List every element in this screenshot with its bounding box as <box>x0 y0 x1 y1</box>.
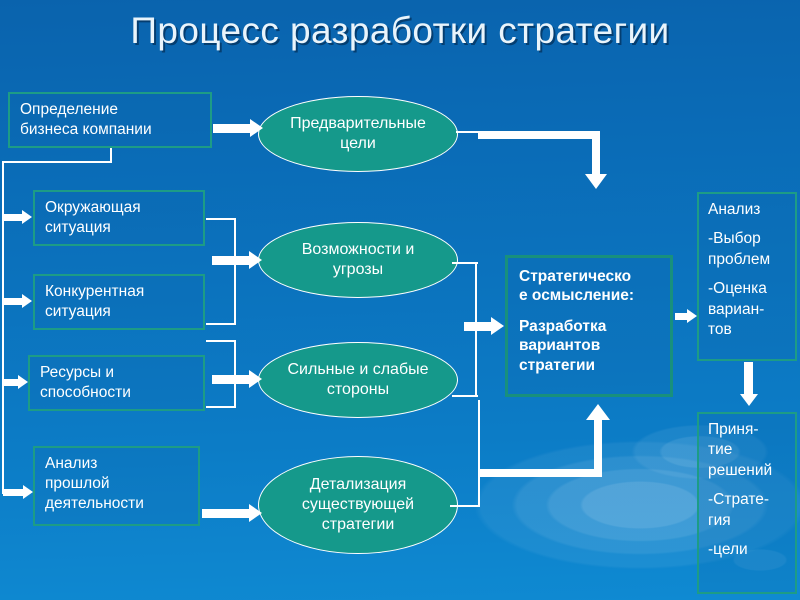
arrow-head-to-central <box>491 317 504 335</box>
spacer <box>708 481 795 490</box>
central-heading-line: е осмысление: <box>519 286 670 305</box>
box-analysis[interactable]: Анализ -Выбор проблем -Оценка вариан- то… <box>697 192 797 361</box>
central-body-line: стратегии <box>519 356 670 375</box>
analysis-heading: Анализ <box>708 200 795 220</box>
bracket-res-top <box>206 340 236 342</box>
analysis-item-line: проблем <box>708 250 795 270</box>
arrow-head-goals-down <box>585 174 607 189</box>
arrow-shaft-to-opportunities <box>212 256 254 265</box>
page-title: Процесс разработки стратегии <box>0 10 800 52</box>
arrow-head-to-strengths <box>249 370 262 388</box>
ellipse-label: Предварительные цели <box>290 114 426 154</box>
bracket-res-spine <box>234 340 236 408</box>
box-resources[interactable]: Ресурсы и способности <box>28 355 205 411</box>
arrow-head-past-to-strategy <box>249 504 262 522</box>
ellipse-line: угрозы <box>333 261 383 278</box>
spacer <box>519 306 670 317</box>
arrow-shaft-to-competition <box>3 298 23 305</box>
arrow-head-central-to-analysis <box>687 309 697 323</box>
elbow-strategy-horizontal <box>478 469 602 477</box>
spacer <box>708 531 795 540</box>
decision-heading-line: Приня- <box>708 420 795 440</box>
connector-business-left <box>2 161 112 163</box>
ellipse-line: Возможности и <box>302 241 415 258</box>
bracket-res-bottom <box>206 406 236 408</box>
box-past-activity[interactable]: Анализ прошлой деятельности <box>33 446 200 526</box>
arrow-head-to-opportunities <box>249 251 262 269</box>
arrow-head-analysis-to-decision <box>740 394 758 406</box>
elbow-goals-vertical <box>592 131 600 177</box>
decision-heading-line: решений <box>708 461 795 481</box>
box-strategic-thinking[interactable]: Стратегическо е осмысление: Разработка в… <box>505 255 673 397</box>
box-line: деятельности <box>45 494 198 514</box>
ellipse-line: стратегии <box>322 516 395 533</box>
spacer <box>708 220 795 229</box>
ellipse-line: существующей <box>302 496 414 513</box>
strategy-stub <box>450 505 480 507</box>
arrow-shaft-to-resources <box>3 379 19 386</box>
decision-item-line: -цели <box>708 540 795 560</box>
arrow-head-to-competition <box>22 294 32 308</box>
ellipse-line: стороны <box>327 381 389 398</box>
box-line: Анализ <box>45 454 198 474</box>
ellipse-preliminary-goals[interactable]: Предварительные цели <box>258 96 458 172</box>
box-environment[interactable]: Окружающая ситуация <box>33 190 205 246</box>
box-competition[interactable]: Конкурентная ситуация <box>33 274 205 330</box>
box-decision-making[interactable]: Приня- тие решений -Страте- гия -цели <box>697 412 797 594</box>
central-body-line: вариантов <box>519 336 670 355</box>
ellipse-current-strategy[interactable]: Детализация существующей стратегии <box>258 456 458 554</box>
slide-canvas: Процесс разработки стратегии Определение… <box>0 0 800 600</box>
box-line: ситуация <box>45 218 203 238</box>
ellipse-strengths-weaknesses[interactable]: Сильные и слабые стороны <box>258 342 458 418</box>
analysis-item-line: -Оценка <box>708 279 795 299</box>
ellipse-label: Возможности и угрозы <box>302 240 415 280</box>
spacer <box>708 270 795 279</box>
box-line: Ресурсы и <box>40 363 203 383</box>
bracket-comp-bottom <box>206 323 236 325</box>
arrow-head-strategy-up <box>586 404 610 420</box>
ellipse-opportunities-threats[interactable]: Возможности и угрозы <box>258 222 458 298</box>
ellipse-line: Детализация <box>310 476 407 493</box>
box-line: ситуация <box>45 302 203 322</box>
decision-heading-line: тие <box>708 440 795 460</box>
strategy-spine <box>478 400 480 506</box>
ellipse-line: цели <box>340 135 376 152</box>
box-business-definition[interactable]: Определение бизнеса компании <box>8 92 212 148</box>
connector-left-spine <box>2 161 4 494</box>
arrow-head-to-environment <box>22 210 32 224</box>
box-line: бизнеса компании <box>20 120 210 140</box>
box-line: Окружающая <box>45 198 203 218</box>
analysis-item-line: тов <box>708 320 795 340</box>
bracket-mid-bottom <box>452 395 478 397</box>
bracket-env-top <box>206 218 236 220</box>
decision-item-line: -Страте- <box>708 490 795 510</box>
ellipse-line: Сильные и слабые <box>287 361 428 378</box>
decision-item-line: гия <box>708 511 795 531</box>
arrow-shaft-business-to-goals <box>213 124 255 133</box>
arrow-shaft-to-past-activity <box>3 489 24 496</box>
box-line: Определение <box>20 100 210 120</box>
arrow-shaft-to-strengths <box>212 375 254 384</box>
ellipse-line: Предварительные <box>290 115 426 132</box>
central-body-line: Разработка <box>519 317 670 336</box>
box-line: Конкурентная <box>45 282 203 302</box>
arrow-shaft-analysis-to-decision <box>744 362 753 396</box>
arrow-shaft-past-to-strategy <box>202 509 254 518</box>
box-line: прошлой <box>45 474 198 494</box>
box-line: способности <box>40 383 203 403</box>
arrow-head-business-to-goals <box>250 119 263 137</box>
analysis-item-line: вариан- <box>708 300 795 320</box>
arrow-shaft-to-environment <box>3 214 23 221</box>
ellipse-label: Детализация существующей стратегии <box>302 475 414 535</box>
arrow-head-to-resources <box>18 375 28 389</box>
central-heading-line: Стратегическо <box>519 267 670 286</box>
elbow-goals-horizontal <box>478 131 600 139</box>
ellipse-label: Сильные и слабые стороны <box>287 360 428 400</box>
elbow-strategy-vertical <box>594 418 602 474</box>
arrow-head-to-past-activity <box>23 485 33 499</box>
analysis-item-line: -Выбор <box>708 229 795 249</box>
bracket-env-spine <box>234 218 236 325</box>
